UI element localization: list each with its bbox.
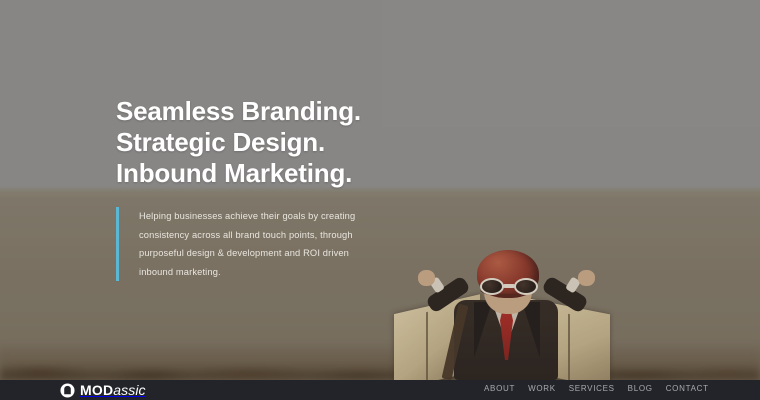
suit-lapel-left <box>474 302 492 358</box>
nav-item-contact[interactable]: CONTACT <box>666 384 709 394</box>
child-fist-right <box>578 270 595 286</box>
nav-item-about[interactable]: ABOUT <box>484 384 515 394</box>
hero-headline-line-3: Inbound Marketing. <box>116 158 361 189</box>
aviator-goggles <box>480 278 538 295</box>
nav-item-blog[interactable]: BLOG <box>628 384 653 394</box>
brand-wordmark: MODassic <box>80 382 146 398</box>
photo-subject-child <box>392 238 622 380</box>
photo-sky-band <box>0 0 760 192</box>
cardboard-wing-seam-right <box>568 314 570 380</box>
nav-item-services[interactable]: SERVICES <box>569 384 615 394</box>
footer-nav: ABOUT WORK SERVICES BLOG CONTACT <box>484 384 709 394</box>
hero-headline-line-1: Seamless Branding. <box>116 96 361 127</box>
site-footer-bar: MODassic ABOUT WORK SERVICES BLOG CONTAC… <box>0 380 760 400</box>
hero-headline: Seamless Branding. Strategic Design. Inb… <box>116 96 361 189</box>
brand-name-italic: assic <box>113 382 145 398</box>
hero-background-photo <box>0 0 760 380</box>
brand-name-bold: MOD <box>80 382 113 398</box>
hero-lede-block: Helping businesses achieve their goals b… <box>116 207 360 281</box>
circle-arch-logo-icon <box>60 383 75 398</box>
goggle-lens-left <box>480 278 504 295</box>
cardboard-wing-seam-left <box>426 312 428 380</box>
suit-lapel-right <box>522 302 540 358</box>
page-root: Seamless Branding. Strategic Design. Inb… <box>0 0 760 400</box>
hero-lede-text: Helping businesses achieve their goals b… <box>139 207 360 281</box>
hero-headline-line-2: Strategic Design. <box>116 127 361 158</box>
nav-item-work[interactable]: WORK <box>528 384 556 394</box>
brand-logo-link[interactable]: MODassic <box>60 382 146 398</box>
child-fist-left <box>418 270 435 286</box>
photo-desert-floor <box>0 344 760 380</box>
goggle-lens-right <box>514 278 538 295</box>
